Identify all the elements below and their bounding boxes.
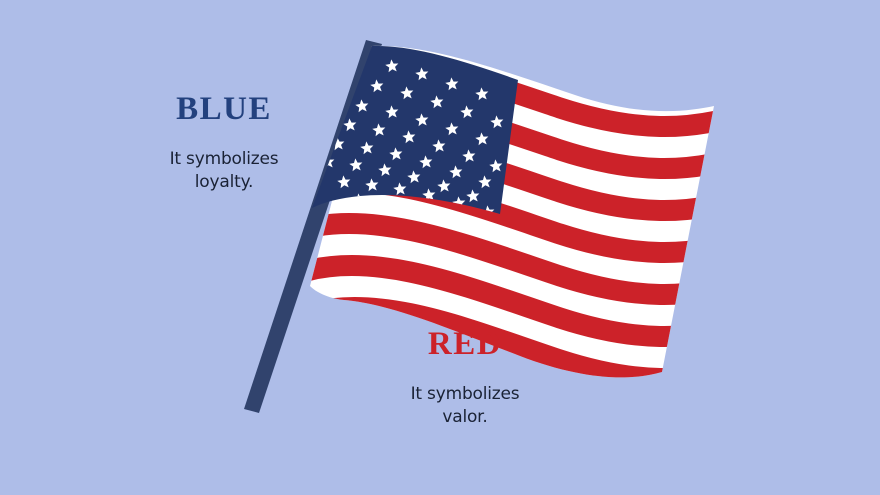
caption-blue-heading: BLUE — [95, 93, 353, 126]
caption-red-heading: RED — [336, 328, 594, 361]
caption-blue-body: It symbolizesloyalty. — [95, 126, 353, 194]
caption-blue-body-line-1: It symbolizes — [170, 149, 279, 169]
caption-red-body-line-2: valor. — [442, 407, 487, 427]
caption-red-body-line-1: It symbolizes — [411, 384, 520, 404]
caption-blue: BLUE It symbolizesloyalty. — [95, 93, 353, 194]
caption-blue-body-line-2: loyalty. — [195, 172, 253, 192]
caption-red: RED It symbolizesvalor. — [336, 328, 594, 429]
caption-red-body: It symbolizesvalor. — [336, 361, 594, 429]
poster-canvas: BLUE It symbolizesloyalty. RED It symbol… — [0, 0, 880, 495]
